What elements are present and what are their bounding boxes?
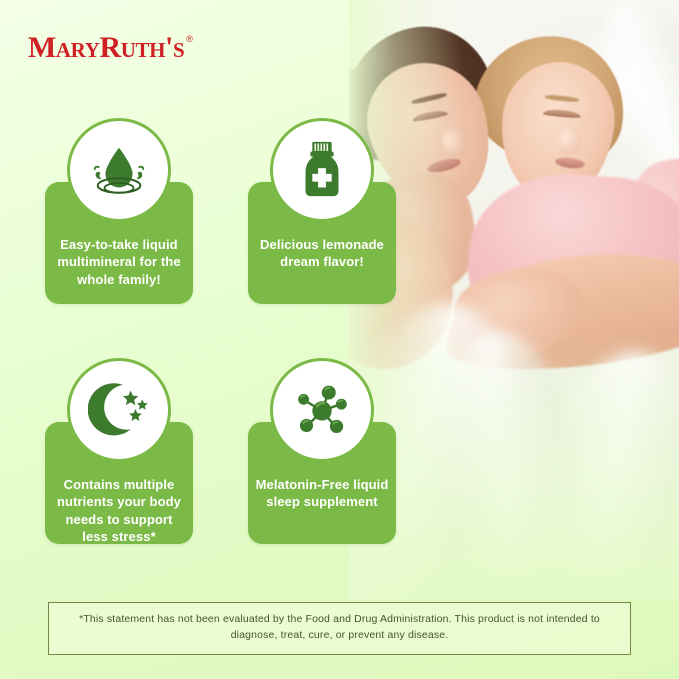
card-label: Delicious lemonade dream flavor!: [254, 236, 390, 271]
card-icon-circle: [270, 358, 374, 462]
water-droplet-splash-icon: [88, 139, 150, 201]
card-icon-circle: [67, 358, 171, 462]
supplement-bottle-icon: [293, 139, 351, 201]
crescent-moon-stars-icon: [88, 379, 150, 441]
card-label: Melatonin-Free liquid sleep supplement: [254, 476, 390, 511]
registered-trademark-icon: ®: [186, 35, 193, 44]
fda-disclaimer: *This statement has not been evaluated b…: [48, 602, 631, 655]
card-label: Easy-to-take liquid multimineral for the…: [51, 236, 187, 288]
card-label: Contains multiple nutrients your body ne…: [51, 476, 187, 545]
molecule-icon: [291, 379, 353, 441]
card-icon-circle: [67, 118, 171, 222]
card-icon-circle: [270, 118, 374, 222]
brand-name: MaryRuth's: [28, 33, 184, 63]
infographic-canvas: MaryRuth's ® Easy-to-take liquid multimi…: [0, 0, 679, 679]
brand-logo: MaryRuth's ®: [28, 33, 193, 63]
background-photo: [349, 0, 679, 600]
